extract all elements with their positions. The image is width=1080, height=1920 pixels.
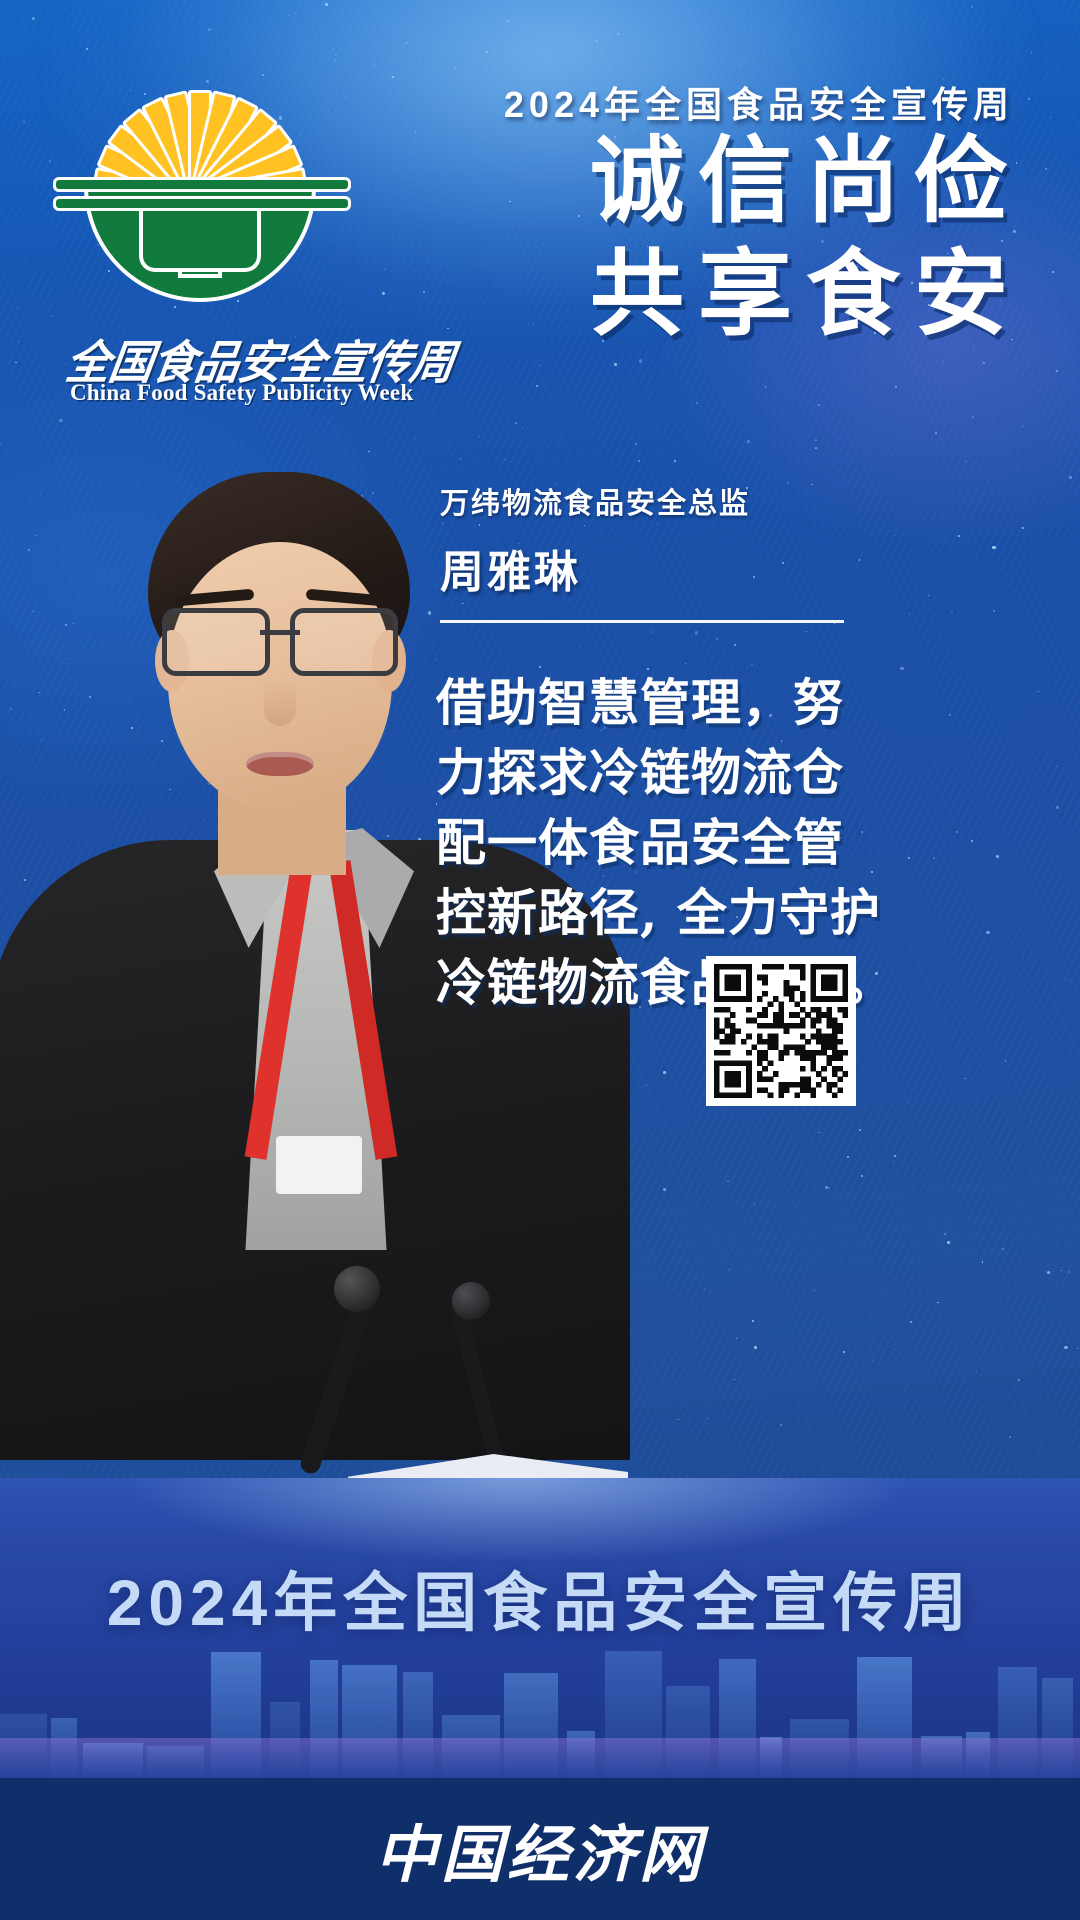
- speaker-info: 万纬物流食品安全总监 周雅琳: [440, 480, 840, 623]
- eyeglasses-icon: [160, 608, 400, 668]
- chopstick-top-icon: [56, 180, 348, 189]
- badge-card: [276, 1136, 362, 1194]
- campaign-slogan: 诚信尚俭 共享食安: [590, 126, 1022, 352]
- bowl-inner-shape: [139, 200, 261, 272]
- mouth-shape: [246, 752, 314, 776]
- poster-root: 全国食品安全宣传周 China Food Safety Publicity We…: [0, 0, 1080, 1920]
- speaker-title: 万纬物流食品安全总监: [440, 480, 840, 522]
- food-safety-bowl-sun-logo-icon: [62, 68, 342, 318]
- slogan-line-1: 诚信尚俭: [590, 126, 1022, 239]
- stage-base-strip: [0, 1738, 1080, 1778]
- lens-left: [162, 608, 270, 676]
- stage-backdrop: 2024年全国食品安全宣传周: [0, 1478, 1080, 1778]
- logo-english-caption: China Food Safety Publicity Week: [70, 380, 370, 406]
- logo-chinese-caption: 全国食品安全宣传周: [64, 325, 361, 378]
- footer-logo-text: 中国经济网: [375, 1804, 705, 1894]
- lens-right: [290, 608, 398, 676]
- brand-logo: 全国食品安全宣传周 China Food Safety Publicity We…: [62, 68, 362, 408]
- quote-line-1: 借助智慧管理，努: [436, 668, 856, 738]
- speaker-divider: [440, 620, 844, 623]
- chopstick-bottom-icon: [56, 199, 348, 208]
- speaker-name: 周雅琳: [440, 536, 840, 600]
- qr-code-icon[interactable]: [706, 956, 856, 1106]
- footer-bar: 中国经济网: [0, 1778, 1080, 1920]
- nose-shape: [264, 680, 296, 726]
- qr-code-grid: [714, 964, 848, 1098]
- glasses-bridge: [260, 630, 300, 635]
- microphone-head-1: [334, 1266, 380, 1312]
- slogan-line-2: 共享食安: [590, 239, 1022, 352]
- microphone-head-2: [452, 1282, 490, 1320]
- bowl-foot-shape: [178, 268, 222, 278]
- campaign-kicker: 2024年全国食品安全宣传周: [504, 76, 1014, 128]
- quote-line-3: 配一体食品安全管: [436, 808, 856, 878]
- quote-line-4: 控新路径, 全力守护: [436, 878, 856, 948]
- quote-line-2: 力探求冷链物流仓: [436, 738, 856, 808]
